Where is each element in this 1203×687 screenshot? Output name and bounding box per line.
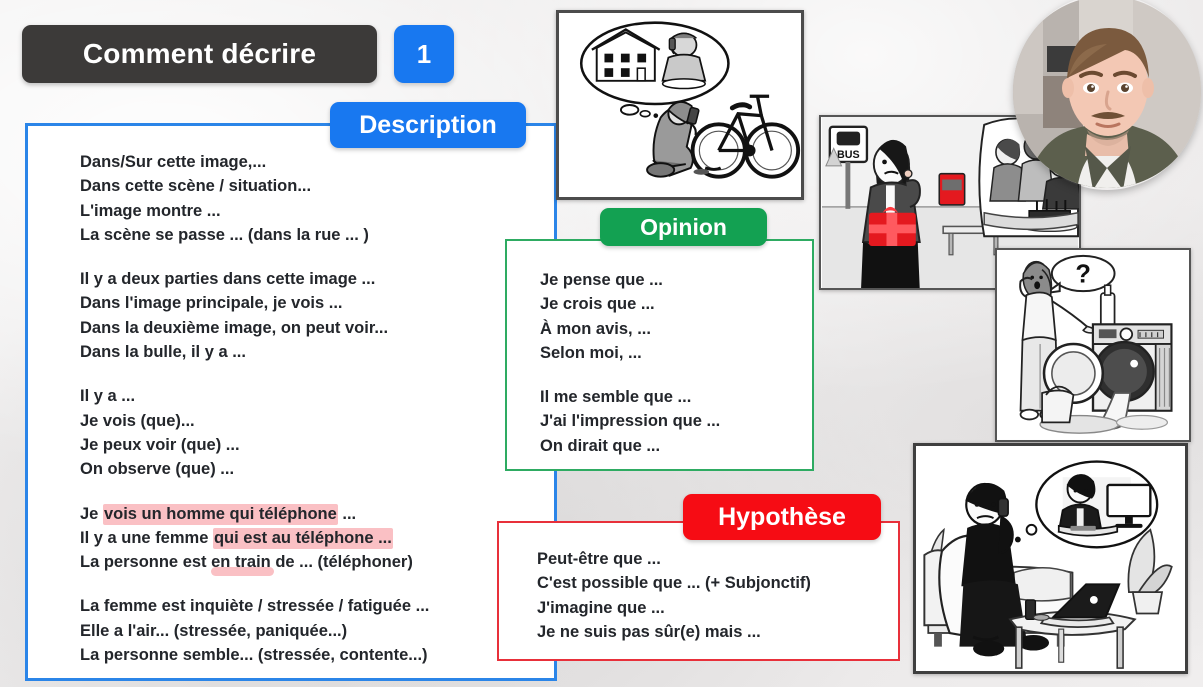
line-prefix: Je <box>80 505 103 523</box>
hypothese-text-block: Peut-être que ... C'est possible que ...… <box>537 547 811 644</box>
opinion-label-text: Opinion <box>640 214 727 241</box>
description-line: Je vois (que)... <box>80 409 429 433</box>
opinion-line: Selon moi, ... <box>540 341 720 365</box>
description-line: Dans cette scène / situation... <box>80 174 429 198</box>
opinion-line: Il me semble que ... <box>540 385 720 409</box>
hypothese-label-badge: Hypothèse <box>683 494 881 540</box>
description-line: La personne semble... (stressée, content… <box>80 643 429 667</box>
page-title-text: Comment décrire <box>83 38 316 70</box>
spacer <box>540 365 720 385</box>
description-line: Dans/Sur cette image,... <box>80 150 429 174</box>
washing-machine-illustration: ? <box>995 248 1191 442</box>
description-line: Dans la deuxième image, on peut voir... <box>80 316 429 340</box>
line-prefix: La personne <box>80 553 183 571</box>
description-line: Elle a l'air... (stressée, paniquée...) <box>80 619 429 643</box>
hypothese-line: Peut-être que ... <box>537 547 811 571</box>
opinion-line: J'ai l'impression que ... <box>540 409 720 433</box>
description-line: Dans l'image principale, je vois ... <box>80 291 429 315</box>
opinion-line: Je crois que ... <box>540 292 720 316</box>
hypothese-line: J'imagine que ... <box>537 596 811 620</box>
opinion-text-block: Je pense que ... Je crois que ... À mon … <box>540 268 720 458</box>
opinion-line: On dirait que ... <box>540 434 720 458</box>
sofa-call-illustration <box>913 443 1188 674</box>
description-line: Il y a deux parties dans cette image ... <box>80 267 429 291</box>
svg-text:BUS: BUS <box>837 149 860 161</box>
description-line-highlighted: Je vois un homme qui téléphone ... <box>80 502 429 526</box>
hypothese-label-text: Hypothèse <box>718 503 846 532</box>
presenter-webcam <box>1013 0 1201 190</box>
highlight-underline: est en train de ... <box>183 553 313 571</box>
highlight-marker: vois un homme qui téléphone <box>103 504 338 525</box>
spacer <box>80 364 429 384</box>
description-line: Il y a ... <box>80 384 429 408</box>
line-suffix: ... <box>338 505 356 523</box>
spacer <box>80 247 429 267</box>
opinion-line: À mon avis, ... <box>540 317 720 341</box>
line-suffix: (téléphoner) <box>313 553 413 571</box>
description-line: Dans la bulle, il y a ... <box>80 340 429 364</box>
description-label-text: Description <box>359 111 497 140</box>
slide-number-badge: 1 <box>394 25 454 83</box>
svg-text:?: ? <box>1075 260 1091 288</box>
opinion-label-badge: Opinion <box>600 208 767 246</box>
description-line-highlighted: Il y a une femme qui est au téléphone ..… <box>80 526 429 550</box>
description-line: L'image montre ... <box>80 199 429 223</box>
description-line: La femme est inquiète / stressée / fatig… <box>80 594 429 618</box>
description-label-badge: Description <box>330 102 526 148</box>
highlight-marker: qui est au téléphone ... <box>213 528 393 549</box>
description-line-highlighted: La personne est en train de ... (télépho… <box>80 550 429 574</box>
spacer <box>80 574 429 594</box>
page-title: Comment décrire <box>22 25 377 83</box>
hypothese-line: C'est possible que ... (+ Subjonctif) <box>537 571 811 595</box>
description-line: Je peux voir (que) ... <box>80 433 429 457</box>
hypothese-line: Je ne suis pas sûr(e) mais ... <box>537 620 811 644</box>
opinion-line: Je pense que ... <box>540 268 720 292</box>
slide-number-text: 1 <box>417 39 431 70</box>
description-line: La scène se passe ... (dans la rue ... ) <box>80 223 429 247</box>
description-line: On observe (que) ... <box>80 457 429 481</box>
description-text-block: Dans/Sur cette image,... Dans cette scèn… <box>80 150 429 667</box>
spacer <box>80 482 429 502</box>
line-prefix: Il y a une femme <box>80 529 213 547</box>
bike-phone-illustration <box>556 10 804 200</box>
